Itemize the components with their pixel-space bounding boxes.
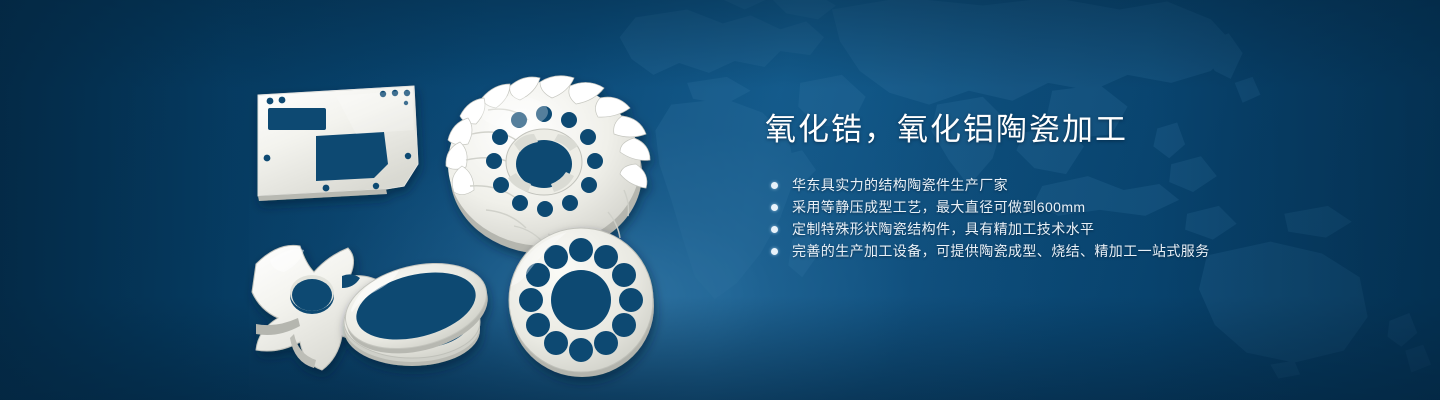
list-item-label: 华东具实力的结构陶瓷件生产厂家 bbox=[792, 177, 1008, 193]
bullet-dot-icon bbox=[771, 182, 778, 189]
list-item: 完善的生产加工设备，可提供陶瓷成型、烧结、精加工一站式服务 bbox=[770, 240, 1365, 262]
ceramic-plate-rectangular bbox=[258, 86, 418, 201]
ceramic-ring-plate bbox=[509, 228, 654, 377]
product-image-group bbox=[236, 38, 666, 378]
list-item: 采用等静压成型工艺，最大直径可做到600mm bbox=[770, 196, 1365, 218]
list-item: 定制特殊形状陶瓷结构件，具有精加工技术水平 bbox=[770, 218, 1365, 240]
list-item: 华东具实力的结构陶瓷件生产厂家 bbox=[770, 174, 1365, 196]
bullet-dot-icon bbox=[771, 248, 778, 255]
ceramic-ring-stack bbox=[336, 250, 496, 367]
hero-banner: 氧化锆，氧化铝陶瓷加工 华东具实力的结构陶瓷件生产厂家 采用等静压成型工艺，最大… bbox=[0, 0, 1440, 400]
banner-copy: 氧化锆，氧化铝陶瓷加工 华东具实力的结构陶瓷件生产厂家 采用等静压成型工艺，最大… bbox=[765, 110, 1365, 262]
ceramic-impeller-disc bbox=[446, 76, 650, 256]
feature-list: 华东具实力的结构陶瓷件生产厂家 采用等静压成型工艺，最大直径可做到600mm 定… bbox=[770, 174, 1365, 262]
bullet-dot-icon bbox=[771, 204, 778, 211]
list-item-label: 采用等静压成型工艺，最大直径可做到600mm bbox=[792, 199, 1085, 215]
bullet-dot-icon bbox=[771, 226, 778, 233]
page-title: 氧化锆，氧化铝陶瓷加工 bbox=[765, 110, 1365, 150]
list-item-label: 完善的生产加工设备，可提供陶瓷成型、烧结、精加工一站式服务 bbox=[792, 243, 1210, 259]
list-item-label: 定制特殊形状陶瓷结构件，具有精加工技术水平 bbox=[792, 221, 1094, 237]
